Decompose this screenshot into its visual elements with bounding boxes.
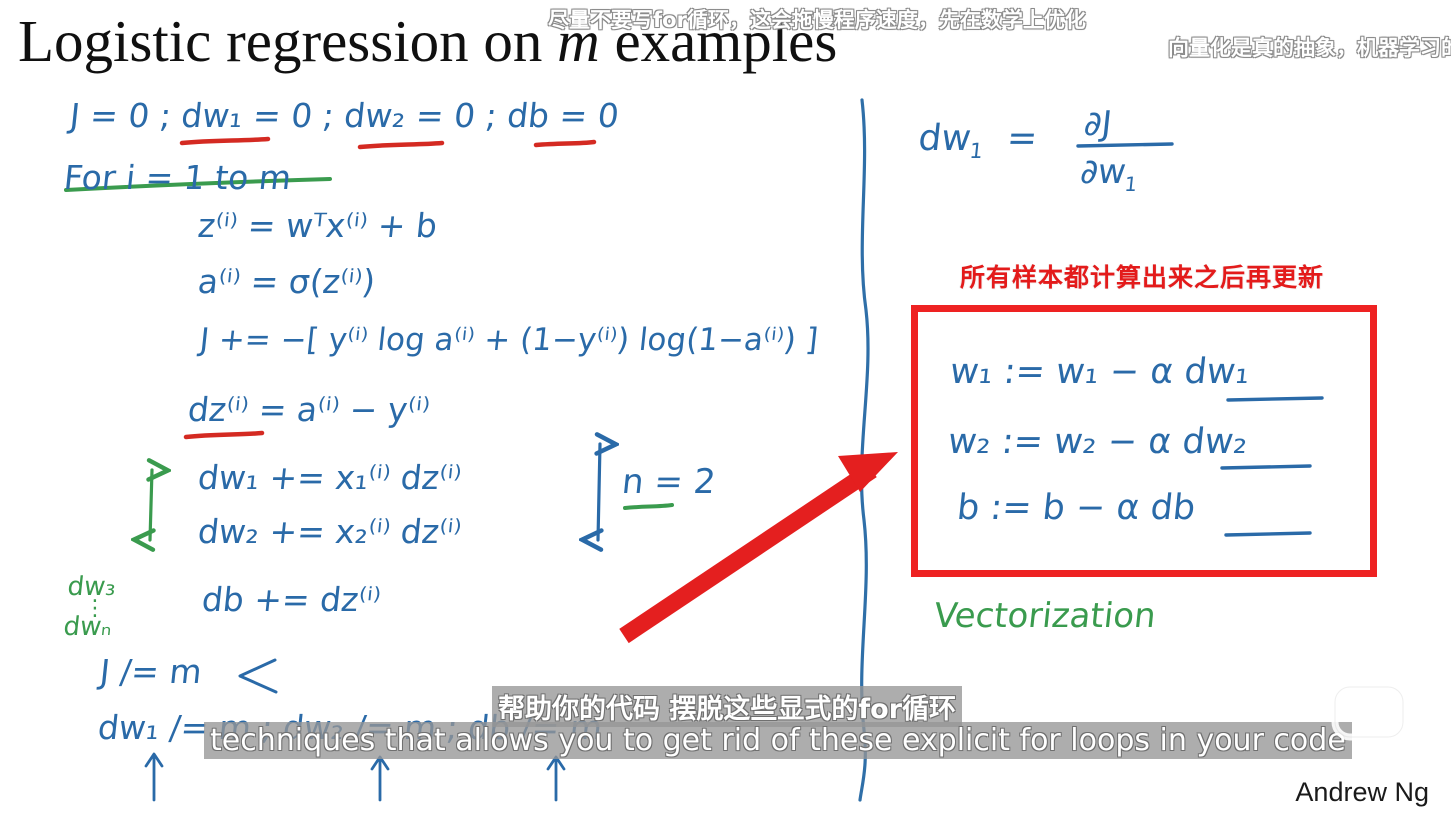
hw-update-b: b := b − α db (955, 488, 1197, 528)
hw-dwn-label: dwₙ (62, 612, 113, 642)
hw-j-div-line: J /= m (98, 652, 204, 691)
subtitle-chinese: 帮助你的代码 摆脱这些显式的for循环 (492, 686, 962, 727)
hw-n-equals-2: n = 2 (620, 462, 718, 502)
danmaku-comment-1: 尽量不要写for循环，这会拖慢程序速度，先在数学上优化 (548, 4, 1086, 34)
blue-up-arrow-1 (146, 754, 162, 800)
red-underline-db (536, 142, 594, 145)
hw-partial-numerator: ∂J (1082, 104, 1114, 144)
red-underline-dz (186, 433, 262, 437)
blue-up-arrow-3 (548, 757, 564, 800)
green-underline-n (625, 505, 672, 508)
red-underline-dw2 (360, 143, 442, 147)
green-double-arrow (150, 470, 152, 540)
hw-a-line: a⁽ⁱ⁾ = σ(z⁽ⁱ⁾) (196, 262, 377, 301)
hw-update-w1: w₁ := w₁ − α dw₁ (948, 352, 1252, 392)
hw-dw2-line: dw₂ += x₂⁽ⁱ⁾ dz⁽ⁱ⁾ (196, 512, 463, 551)
hw-dw1-definition: dw1 = (916, 118, 1039, 163)
hw-vectorization-label: Vectorization (932, 596, 1158, 636)
bilibili-watermark-icon (1323, 665, 1415, 756)
red-annotation-note: 所有样本都计算出来之后再更新 (960, 258, 1324, 294)
hw-dw1-line: dw₁ += x₁⁽ⁱ⁾ dz⁽ⁱ⁾ (196, 458, 463, 497)
page-title-part1: Logistic regression on (18, 8, 557, 74)
hw-cost-line: J += −[ y⁽ⁱ⁾ log a⁽ⁱ⁾ + (1−y⁽ⁱ⁾) log(1−a… (198, 322, 820, 358)
hw-init-line: J = 0 ; dw₁ = 0 ; dw₂ = 0 ; db = 0 (68, 96, 621, 135)
hw-partial-denominator: ∂w1 (1078, 152, 1141, 196)
red-underline-dw1 (182, 139, 268, 143)
danmaku-comment-2: 向量化是真的抽象，机器学习的 (1168, 32, 1451, 62)
hw-db-line: db += dz⁽ⁱ⁾ (200, 580, 383, 619)
blue-left-arrow (240, 660, 276, 692)
hw-update-w2: w₂ := w₂ − α dw₂ (946, 422, 1250, 462)
hw-dz-line: dz⁽ⁱ⁾ = a⁽ⁱ⁾ − y⁽ⁱ⁾ (186, 390, 432, 429)
slide-canvas: Logistic regression on m examples (0, 0, 1451, 816)
blue-double-arrow (598, 444, 600, 540)
blue-up-arrow-2 (372, 757, 388, 800)
presenter-name: Andrew Ng (1295, 777, 1429, 808)
hw-z-line: z⁽ⁱ⁾ = wᵀx⁽ⁱ⁾ + b (196, 206, 439, 245)
hw-for-line: For i = 1 to m (62, 158, 293, 197)
fraction-bar (1078, 144, 1172, 146)
subtitle-english: techniques that allows you to get rid of… (204, 722, 1352, 759)
